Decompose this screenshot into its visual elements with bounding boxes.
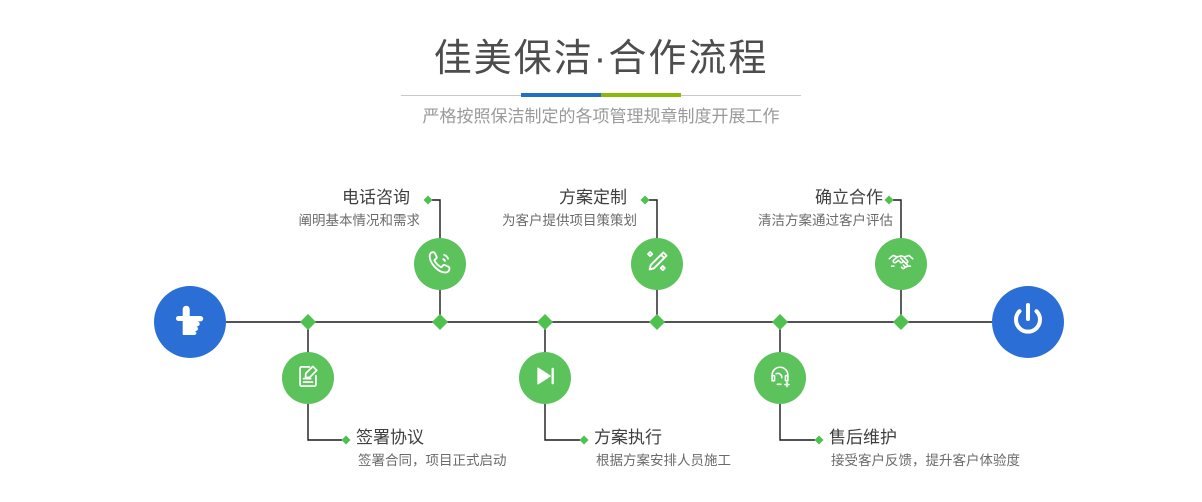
- step-desc-6: 接受客户反馈，提升客户体验度: [819, 450, 1020, 472]
- flow-start-node[interactable]: [154, 286, 226, 358]
- play-to-end-icon: [531, 362, 559, 395]
- step-label-6: 售后维护: [819, 426, 1020, 450]
- flow-end-node[interactable]: [992, 286, 1064, 358]
- pencil-customize-icon: [642, 247, 672, 282]
- elbow-step-6: [780, 404, 815, 440]
- step-text-1: 电话咨询 阐明基本情况和需求: [299, 186, 421, 232]
- step-icon-6[interactable]: [754, 352, 806, 404]
- step-label-3: 方案定制: [502, 186, 637, 210]
- process-flow-diagram: 电话咨询 阐明基本情况和需求 签署协议 签署合同，项目正式启动: [0, 0, 1202, 502]
- step-desc-1: 阐明基本情况和需求: [299, 210, 421, 232]
- step-text-3: 方案定制 为客户提供项目策策划: [502, 186, 637, 232]
- step-label-1: 电话咨询: [299, 186, 421, 210]
- step-desc-5: 清洁方案通过客户评估: [758, 210, 893, 232]
- step-text-2: 签署协议 签署合同，项目正式启动: [346, 426, 507, 472]
- step-text-4: 方案执行 根据方案安排人员施工: [584, 426, 731, 472]
- step-text-5: 确立合作 清洁方案通过客户评估: [758, 186, 893, 232]
- power-icon: [1007, 299, 1049, 346]
- document-edit-icon: [294, 362, 322, 395]
- elbow-step-4: [545, 404, 580, 440]
- step-label-5: 确立合作: [758, 186, 893, 210]
- step-label-2: 签署协议: [346, 426, 507, 450]
- step-text-6: 售后维护 接受客户反馈，提升客户体验度: [819, 426, 1020, 472]
- step-label-4: 方案执行: [584, 426, 731, 450]
- elbow-step-2: [308, 404, 342, 440]
- step-icon-4[interactable]: [519, 352, 571, 404]
- step-desc-2: 签署合同，项目正式启动: [346, 450, 507, 472]
- elbow-step-1: [432, 200, 440, 238]
- step-icon-5[interactable]: [875, 238, 927, 290]
- customer-support-icon: [766, 362, 794, 395]
- step-desc-4: 根据方案安排人员施工: [584, 450, 731, 472]
- step-desc-3: 为客户提供项目策策划: [502, 210, 637, 232]
- elbow-step-3: [649, 200, 657, 238]
- step-icon-2[interactable]: [282, 352, 334, 404]
- phone-call-icon: [425, 247, 455, 282]
- step-icon-3[interactable]: [631, 238, 683, 290]
- pointing-hand-icon: [170, 300, 210, 345]
- handshake-icon: [886, 247, 916, 282]
- label-diamond-markers: [342, 196, 894, 445]
- elbow-step-5: [893, 200, 901, 238]
- step-icon-1[interactable]: [414, 238, 466, 290]
